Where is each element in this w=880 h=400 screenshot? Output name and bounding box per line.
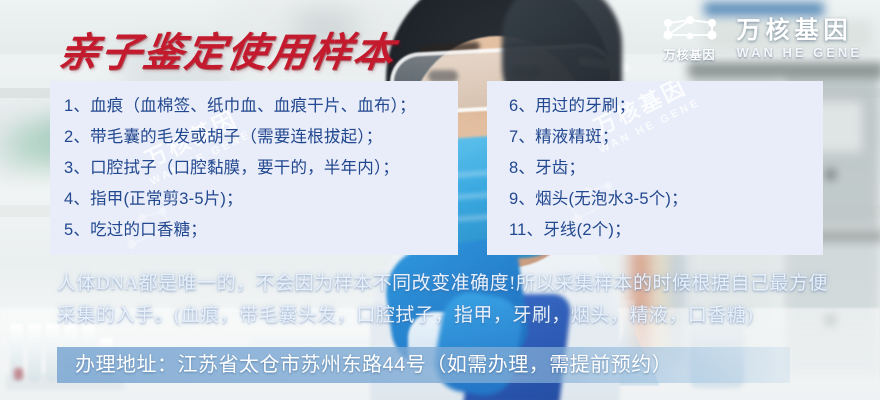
description-paragraph: 人体DNA都是唯一的，不会因为样本不同改变准确度!所以采集样本的时候根据自己最方…: [57, 268, 847, 332]
page-title: 亲子鉴定使用样本: [55, 20, 400, 78]
list-item: 11、牙线(2个)；: [509, 215, 823, 246]
list-item: 5、吃过的口香糖；: [64, 215, 458, 246]
list-item: 1、血痕（血棉签、纸巾血、血痕干片、血布）；: [64, 91, 458, 122]
list-item: 2、带毛囊的毛发或胡子（需要连根拔起）；: [64, 122, 458, 153]
brand-name-en: WAN HE GENE: [737, 46, 862, 60]
sample-list-panel-left: 万核基因 WAN HE GENE 1、血痕（血棉签、纸巾血、血痕干片、血布）； …: [50, 81, 458, 255]
list-item: 7、精液精斑；: [509, 122, 823, 153]
list-item: 4、指甲(正常剪3-5片)；: [64, 184, 458, 215]
address-text: 办理地址：江苏省太仓市苏州东路44号（如需办理，需提前预约）: [75, 350, 672, 380]
brand-mark: 万核基因: [659, 14, 721, 63]
brand-name-cn: 万核基因: [737, 18, 862, 43]
sample-list-left: 1、血痕（血棉签、纸巾血、血痕干片、血布）； 2、带毛囊的毛发或胡子（需要连根拔…: [50, 81, 458, 246]
list-item: 9、烟头(无泡水3-5个)；: [509, 184, 823, 215]
list-item: 3、口腔拭子（口腔黏膜，要干的，半年内）；: [64, 153, 458, 184]
brand-logo: 万核基因 万核基因 WAN HE GENE: [659, 14, 862, 63]
sample-list-right: 6、用过的牙刷； 7、精液精斑； 8、牙齿； 9、烟头(无泡水3-5个)； 11…: [487, 81, 823, 246]
list-item: 8、牙齿；: [509, 153, 823, 184]
molecule-icon: [659, 14, 721, 44]
poster-canvas: 亲子鉴定使用样本: [0, 0, 880, 400]
brand-mark-label: 万核基因: [664, 46, 716, 63]
list-item: 6、用过的牙刷；: [509, 91, 823, 122]
brand-name-block: 万核基因 WAN HE GENE: [737, 18, 862, 60]
sample-list-panel-right: 万核基因 WAN HE GENE 6、用过的牙刷； 7、精液精斑； 8、牙齿； …: [487, 81, 823, 255]
